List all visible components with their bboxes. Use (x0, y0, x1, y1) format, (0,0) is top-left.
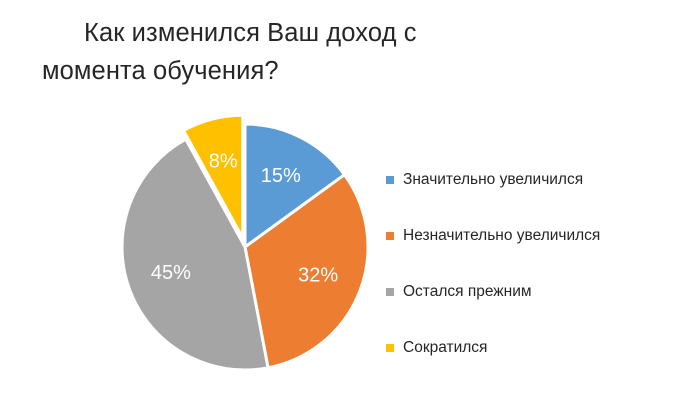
pie-plot-area: 15%32%45%8% (110, 110, 385, 395)
pie-chart: Как изменился Ваш доход с момента обучен… (0, 0, 700, 417)
pie-slices (122, 115, 368, 370)
legend-item[interactable]: Остался прежним (386, 264, 686, 320)
legend-swatch-icon (386, 344, 394, 352)
chart-legend: Значительно увеличилсяНезначительно увел… (386, 152, 686, 376)
legend-item[interactable]: Значительно увеличился (386, 152, 686, 208)
legend-item-label: Незначительно увеличился (403, 228, 600, 244)
legend-item-label: Остался прежним (403, 284, 532, 300)
chart-title: Как изменился Ваш доход с момента обучен… (42, 14, 512, 90)
legend-item-label: Сократился (403, 340, 487, 356)
legend-item[interactable]: Сократился (386, 320, 686, 376)
legend-item-label: Значительно увеличился (403, 172, 583, 188)
pie-svg: 15%32%45%8% (110, 110, 385, 395)
pie-slice-label: 8% (209, 150, 238, 172)
legend-swatch-icon (386, 232, 394, 240)
legend-swatch-icon (386, 288, 394, 296)
legend-item[interactable]: Незначительно увеличился (386, 208, 686, 264)
legend-swatch-icon (386, 176, 394, 184)
pie-slice-label: 32% (298, 264, 338, 286)
pie-slice-label: 45% (151, 262, 191, 284)
pie-slice-label: 15% (261, 165, 301, 187)
